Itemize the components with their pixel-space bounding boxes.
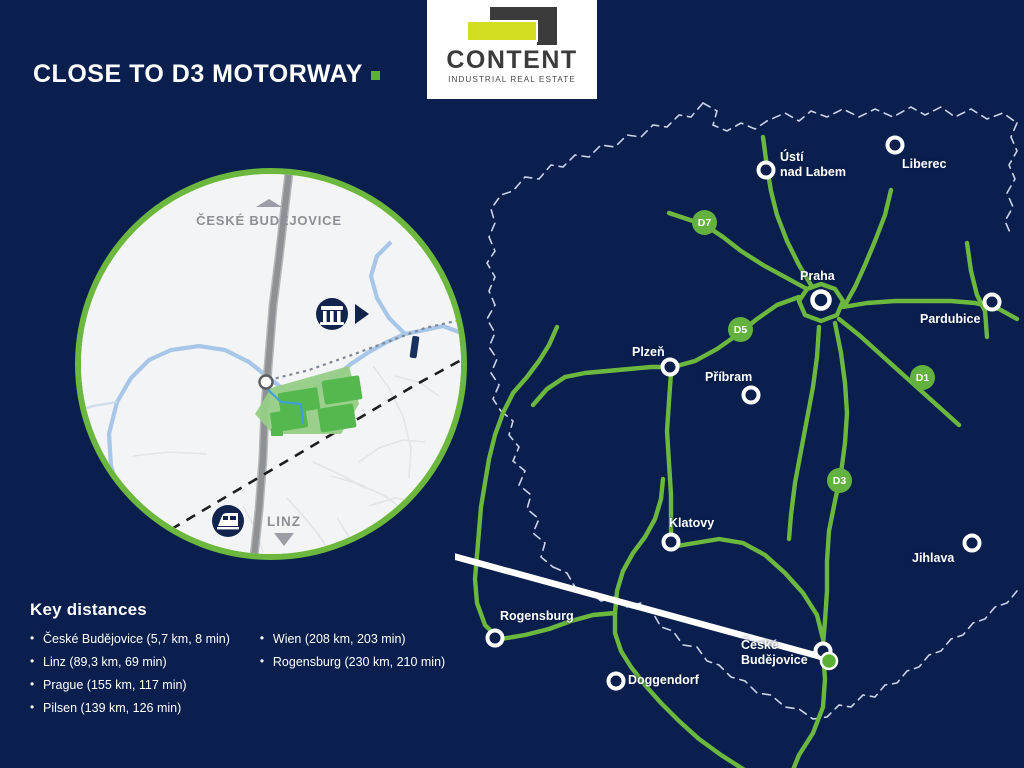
motorway-badge-d7[interactable]: D7 bbox=[692, 210, 717, 235]
page-title-text: CLOSE TO D3 MOTORWAY bbox=[33, 60, 363, 88]
key-distance-item: Linz (89,3 km, 69 min) bbox=[30, 653, 230, 672]
key-distances-column-1: České Budějovice (5,7 km, 8 min) Linz (8… bbox=[30, 630, 230, 718]
company-logo: CONTENT INDUSTRIAL REAL ESTATE bbox=[427, 0, 597, 99]
city-label-jihlava: Jihlava bbox=[912, 551, 954, 565]
motorway-bridge-icon[interactable] bbox=[316, 298, 348, 330]
country-border-dashed bbox=[487, 103, 1017, 719]
content-logo-mark-icon bbox=[427, 0, 597, 52]
city-label-rogensburg: Rogensburg bbox=[500, 609, 574, 623]
city-label-pardubice: Pardubice bbox=[920, 312, 980, 326]
key-distances-panel: Key distances České Budějovice (5,7 km, … bbox=[30, 600, 500, 718]
motorway-network bbox=[475, 137, 1017, 768]
key-distance-item: Prague (155 km, 117 min) bbox=[30, 676, 230, 695]
city-label-praha: Praha bbox=[800, 269, 835, 283]
slide-canvas: CLOSE TO D3 MOTORWAY CONTENT INDUSTRIAL … bbox=[0, 0, 1024, 768]
city-label-klatovy: Klatovy bbox=[669, 516, 714, 530]
building-5 bbox=[271, 428, 283, 436]
city-label-usti-nad-labem: Ústí nad Labem bbox=[780, 150, 846, 180]
motorway-badge-d5[interactable]: D5 bbox=[728, 317, 753, 342]
city-label-pribram: Příbram bbox=[705, 370, 752, 384]
key-distance-item: Wien (208 km, 203 min) bbox=[260, 630, 445, 649]
key-distances-heading: Key distances bbox=[30, 600, 500, 620]
site-location-marker[interactable] bbox=[821, 653, 837, 669]
key-distances-column-2: Wien (208 km, 203 min) Rogensburg (230 k… bbox=[260, 630, 445, 718]
logo-wordmark: CONTENT bbox=[427, 46, 597, 75]
title-accent-square bbox=[371, 71, 380, 80]
logo-tagline: INDUSTRIAL REAL ESTATE bbox=[427, 75, 597, 84]
key-distance-item: Pilsen (139 km, 126 min) bbox=[30, 699, 230, 718]
page-title: CLOSE TO D3 MOTORWAY bbox=[33, 60, 380, 89]
motorway-badge-d1[interactable]: D1 bbox=[910, 365, 935, 390]
inset-label-linz: LINZ bbox=[234, 514, 334, 529]
motorway-badge-d3[interactable]: D3 bbox=[827, 468, 852, 493]
site-access-node bbox=[260, 376, 273, 389]
key-distance-item: České Budějovice (5,7 km, 8 min) bbox=[30, 630, 230, 649]
city-label-plzen: Plzeň bbox=[632, 345, 665, 359]
country-map: Ústí nad Labem Liberec Praha Pardubice P… bbox=[455, 95, 1024, 768]
city-label-liberec: Liberec bbox=[902, 157, 946, 171]
country-map-svg bbox=[455, 95, 1024, 768]
city-label-ceske-budejovice: České Budějovice bbox=[741, 638, 808, 668]
city-label-doggendorf: Doggendorf bbox=[628, 673, 699, 687]
key-distance-item: Rogensburg (230 km, 210 min) bbox=[260, 653, 445, 672]
city-markers bbox=[488, 138, 1000, 768]
inset-label-ceske-budejovice: ČESKÉ BUDĚJOVICE bbox=[169, 212, 369, 230]
site-detail-inset-map[interactable]: ČESKÉ BUDĚJOVICE LINZ bbox=[73, 166, 469, 562]
